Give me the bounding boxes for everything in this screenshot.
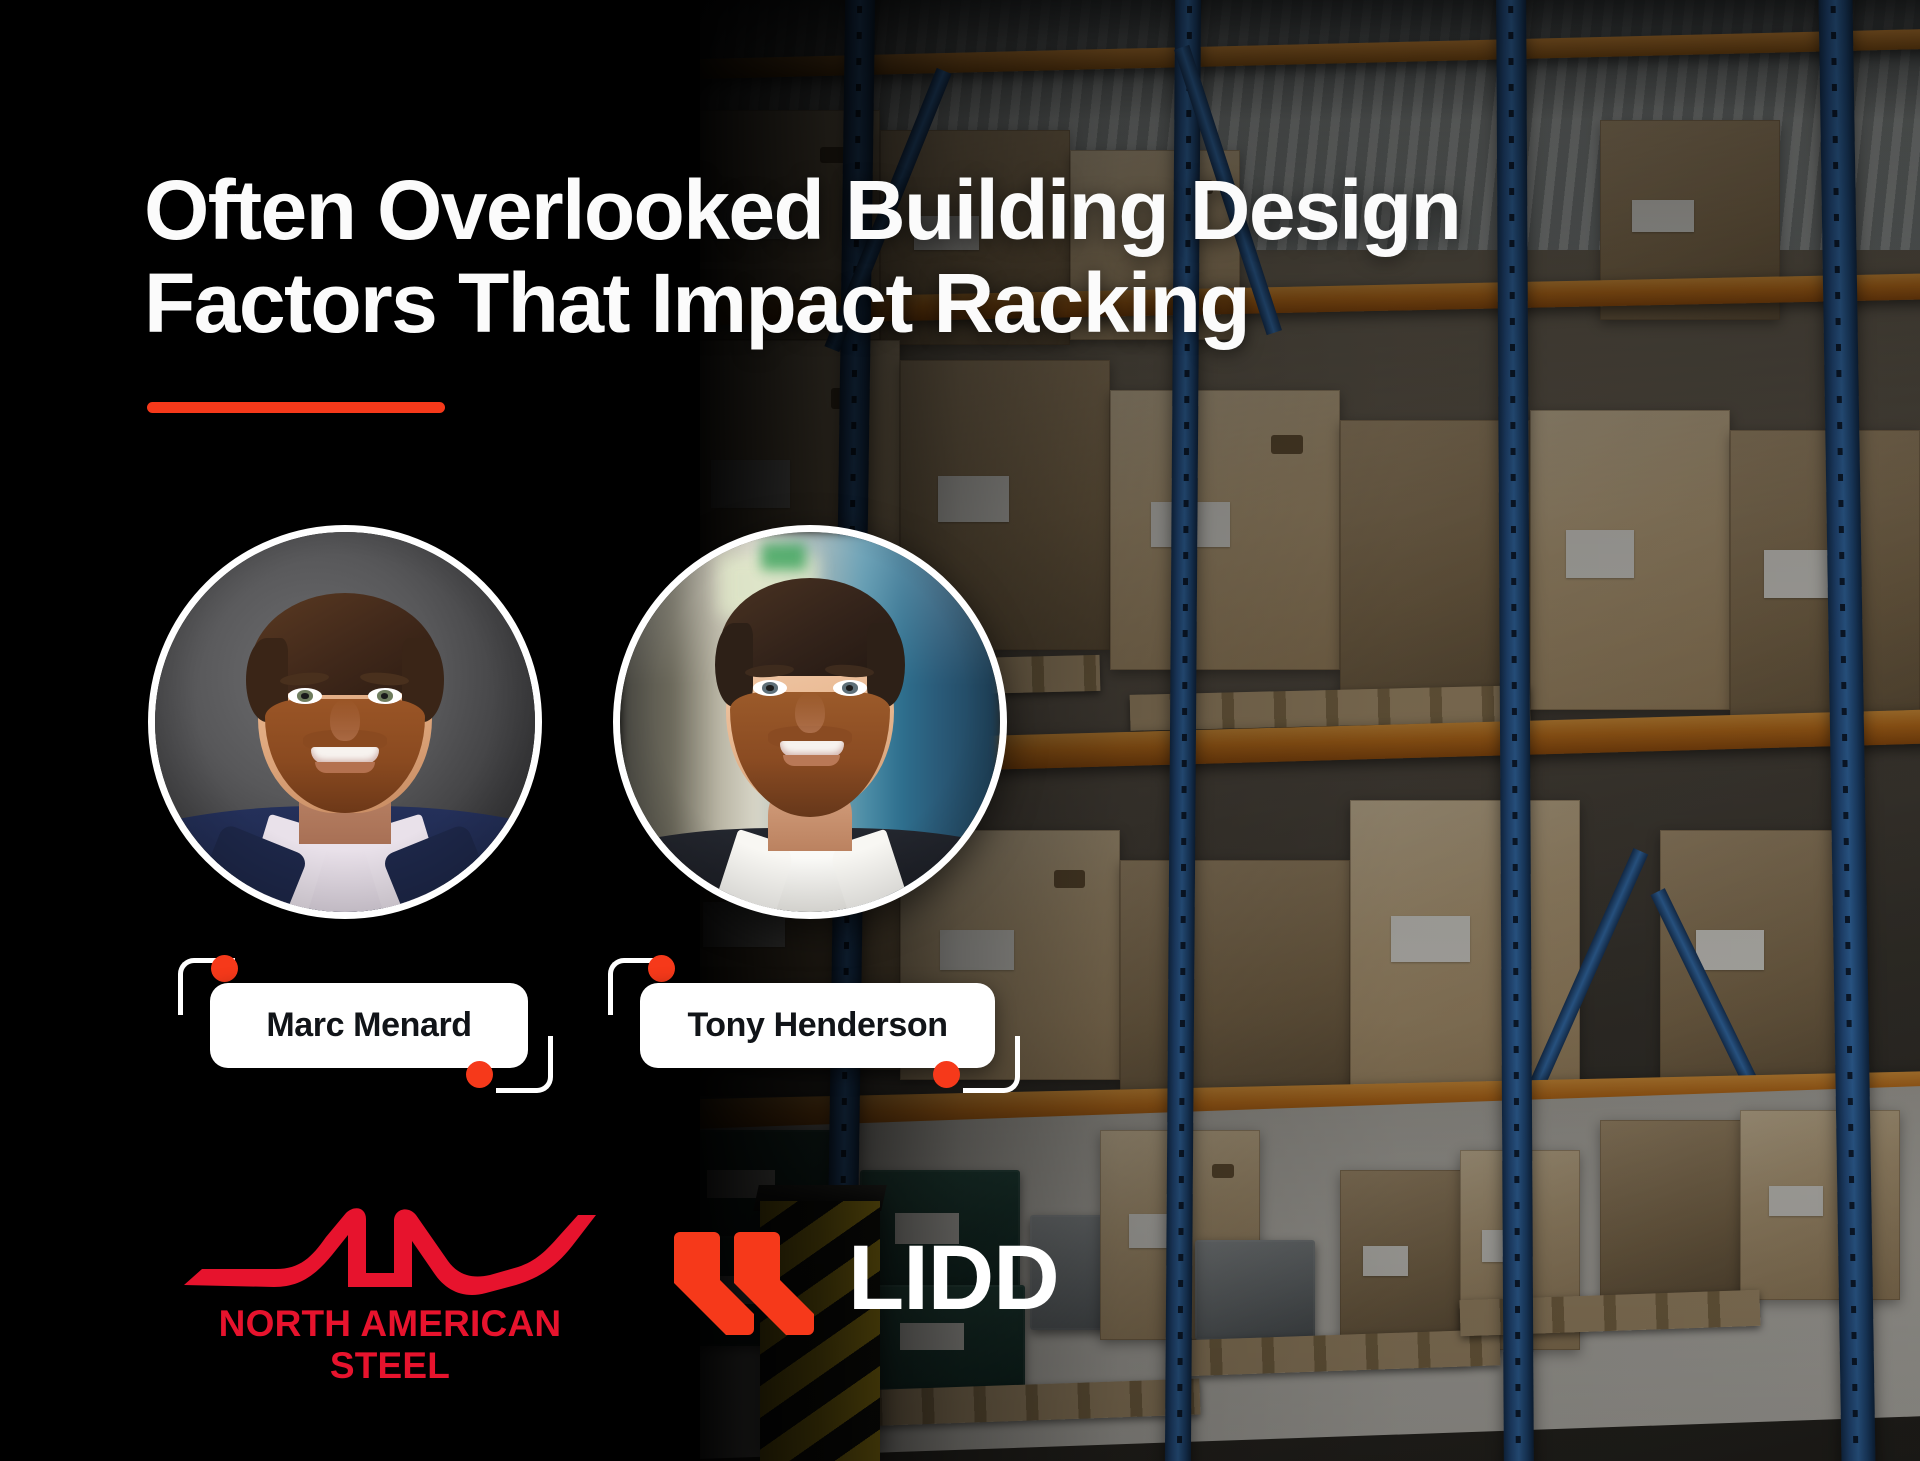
nas-wordmark: NORTH AMERICAN STEEL [180,1303,600,1387]
speaker-name-card: Tony Henderson [640,983,995,1068]
avatar [613,525,1007,919]
badge-dot-bottom [466,1061,493,1088]
lidd-wordmark: LIDD [848,1232,1059,1324]
lidd-interlocking-mark [672,1226,822,1341]
badge-bracket-bottom-right [496,1036,553,1093]
lidd-logo: LIDD [672,1226,1142,1346]
page-title: Often Overlooked Building Design Factors… [144,164,1844,349]
avatar-vignette [155,532,535,912]
nas-wave-mark [180,1207,600,1303]
badge-dot-top [211,955,238,982]
badge-bracket-bottom-right [963,1036,1020,1093]
accent-underline [147,402,445,413]
badge-dot-bottom [933,1061,960,1088]
title-line-2: Factors That Impact Racking [144,257,1844,349]
avatar [148,525,542,919]
title-line-1: Often Overlooked Building Design [144,164,1844,256]
badge-dot-top [648,955,675,982]
speaker-name-card: Marc Menard [210,983,528,1068]
speaker-badge: Marc Menard [178,958,558,1098]
slide-canvas: Often Overlooked Building Design Factors… [0,0,1920,1461]
speaker-name: Marc Menard [266,1006,471,1045]
speaker-badge: Tony Henderson [608,958,1008,1098]
speaker-name: Tony Henderson [687,1006,947,1045]
north-american-steel-logo: NORTH AMERICAN STEEL [180,1207,600,1357]
avatar-vignette [620,532,1000,912]
